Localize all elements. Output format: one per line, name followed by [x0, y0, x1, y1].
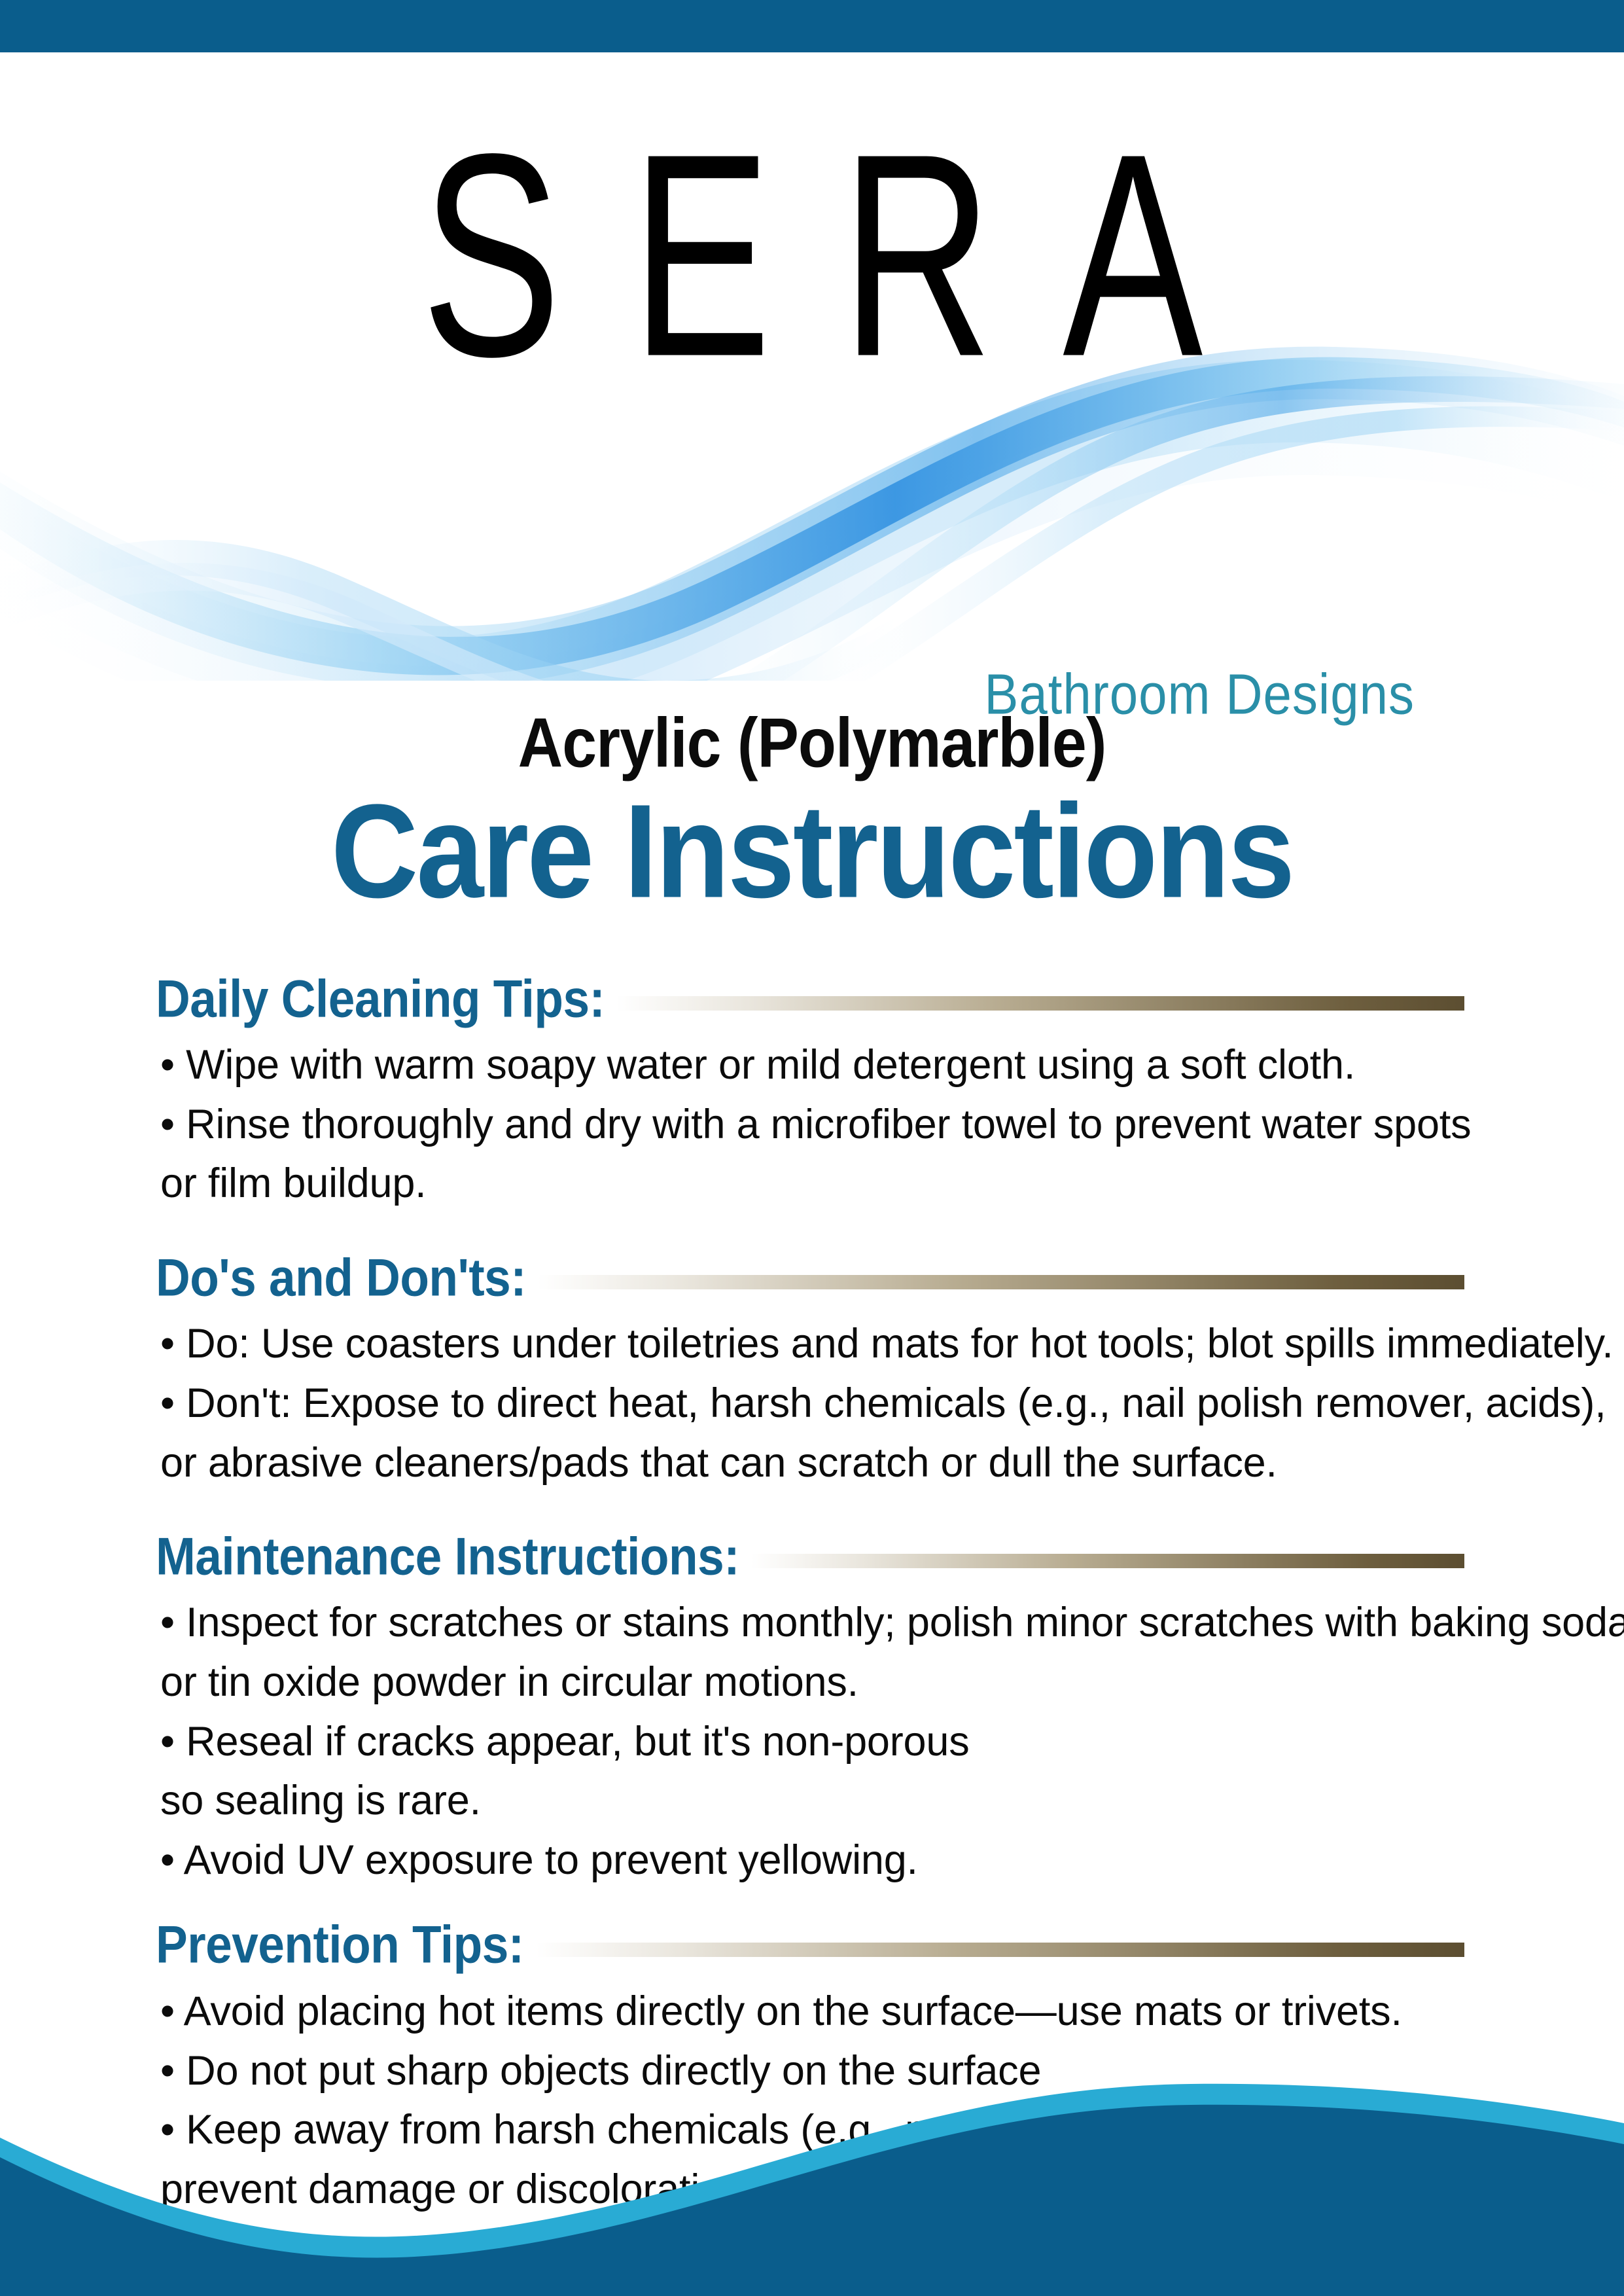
list-item: or film buildup.	[160, 1154, 1506, 1213]
top-accent-bar	[0, 0, 1624, 52]
section-divider-rule	[616, 996, 1464, 1011]
section-heading-label: Daily Cleaning Tips:	[156, 969, 609, 1028]
section-bullet-list: • Inspect for scratches or stains monthl…	[0, 1587, 1624, 1890]
list-item: • Wipe with warm soapy water or mild det…	[160, 1035, 1506, 1095]
list-item: • Do: Use coasters under toiletries and …	[160, 1314, 1506, 1374]
list-item: • Avoid placing hot items directly on th…	[160, 1982, 1506, 2041]
care-instructions-body: Daily Cleaning Tips: • Wipe with warm so…	[0, 969, 1624, 2219]
list-item: • Avoid UV exposure to prevent yellowing…	[160, 1831, 1506, 1890]
brand-header: SERA	[0, 52, 1624, 707]
list-item: • Inspect for scratches or stains monthl…	[160, 1593, 1506, 1653]
section-divider-rule	[538, 1275, 1464, 1289]
list-item: or abrasive cleaners/pads that can scrat…	[160, 1433, 1506, 1493]
section-heading-label: Maintenance Instructions:	[156, 1527, 743, 1587]
section-bullet-list: • Wipe with warm soapy water or mild det…	[0, 1029, 1624, 1213]
list-item: • Don't: Expose to direct heat, harsh ch…	[160, 1374, 1506, 1433]
section-header: Do's and Don'ts:	[0, 1247, 1624, 1308]
section-daily-cleaning-tips: Daily Cleaning Tips: • Wipe with warm so…	[0, 969, 1624, 1213]
list-item: or tin oxide powder in circular motions.	[160, 1653, 1506, 1712]
section-bullet-list: • Do: Use coasters under toiletries and …	[0, 1308, 1624, 1492]
page-title: Care Instructions	[0, 785, 1624, 919]
footer-wave-dark	[0, 2105, 1624, 2296]
section-heading-label: Prevention Tips:	[156, 1915, 528, 1975]
section-header: Daily Cleaning Tips:	[0, 969, 1624, 1029]
section-divider-rule	[751, 1554, 1464, 1568]
list-item: • Reseal if cracks appear, but it's non-…	[160, 1712, 1506, 1772]
section-heading-label: Do's and Don'ts:	[156, 1248, 530, 1308]
section-header: Prevention Tips:	[0, 1915, 1624, 1975]
brand-wordmark: SERA	[57, 111, 1567, 401]
list-item: • Rinse thoroughly and dry with a microf…	[160, 1095, 1506, 1155]
section-divider-rule	[536, 1943, 1464, 1957]
section-maintenance-instructions: Maintenance Instructions: • Inspect for …	[0, 1526, 1624, 1890]
footer-wave-graphic	[0, 2080, 1624, 2296]
section-dos-and-donts: Do's and Don'ts: • Do: Use coasters unde…	[0, 1247, 1624, 1492]
list-item: so sealing is rare.	[160, 1771, 1506, 1831]
section-header: Maintenance Instructions:	[0, 1526, 1624, 1587]
product-subtitle: Acrylic (Polymarble)	[0, 704, 1624, 783]
